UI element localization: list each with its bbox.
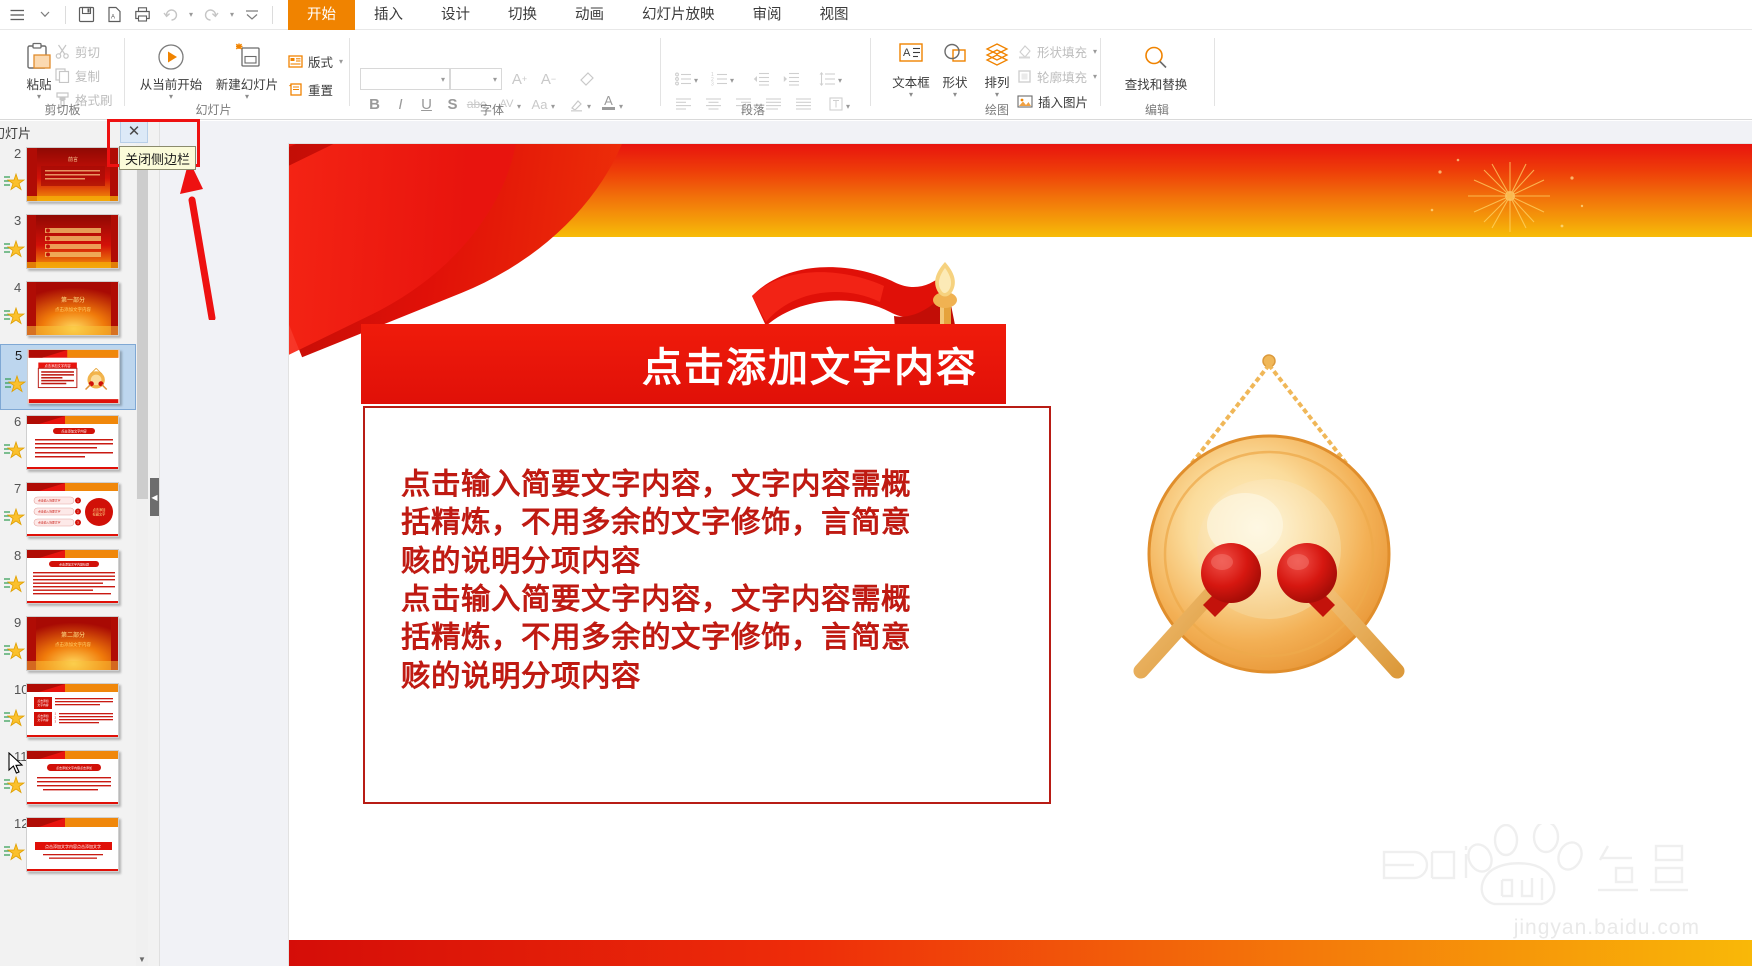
svg-text:A: A bbox=[903, 47, 911, 59]
tooltip-text: 关闭侧边栏 bbox=[125, 149, 190, 168]
svg-text:点击添加文字内容: 点击添加文字内容 bbox=[55, 641, 91, 648]
play-from-current-label: 从当前开始 bbox=[140, 74, 203, 93]
clipboard-group-label: 剪切板 bbox=[0, 101, 125, 118]
svg-text:前言: 前言 bbox=[68, 156, 78, 163]
play-from-current-button[interactable]: 从当前开始 ▾ bbox=[134, 42, 208, 100]
slide-footer-banner bbox=[289, 940, 1752, 966]
thumb-art: 前言 bbox=[27, 148, 119, 202]
gold-gong-illustration bbox=[1119, 349, 1439, 709]
shapes-label: 形状 bbox=[942, 72, 967, 91]
slide-number: 2 bbox=[14, 146, 21, 161]
bullets-icon[interactable] bbox=[671, 67, 696, 91]
body-line: 点击输入简要文字内容，文字内容需概 bbox=[401, 581, 1021, 619]
thumb-art: 点击添加 文字内容 点击添加 文字内容 123 bbox=[27, 684, 119, 738]
slide-preview[interactable]: 点击添加 文字内容 点击添加 文字内容 123 bbox=[26, 683, 119, 738]
reset-icon bbox=[288, 82, 303, 97]
slide-thumbnail-list[interactable]: 2 前言 3 bbox=[0, 143, 136, 966]
slide-thumbnail-item[interactable]: 10 点击添加 文字内容 点击添加 文字内容 123 bbox=[0, 679, 136, 745]
slide-thumbnail-item[interactable]: 7 点击输入简要文字点击输入简要文字点击输入简要文字 123 点击添加 标题文字 bbox=[0, 478, 136, 544]
slide-panel-title: 幻灯片 bbox=[0, 123, 31, 142]
thumb-art: 点击添加文字内容点击添加 bbox=[27, 751, 119, 805]
ribbon: 粘贴 ▾ 剪切 复制 格式刷 剪切板 bbox=[0, 30, 1752, 120]
slide-preview[interactable]: 点击添加文字内容点击添加 bbox=[26, 750, 119, 805]
annotation-arrow bbox=[178, 158, 218, 320]
textbox-dropdown-icon[interactable]: ▾ bbox=[909, 91, 913, 98]
svg-text:点击输入简要文字: 点击输入简要文字 bbox=[38, 510, 61, 514]
svg-text:点击添加文字内容点击添加文字: 点击添加文字内容点击添加文字 bbox=[45, 843, 101, 849]
slide-thumbnail-item[interactable]: 3 bbox=[0, 210, 136, 276]
layout-icon bbox=[288, 54, 303, 69]
redo-icon[interactable] bbox=[198, 2, 224, 28]
shape-fill-dropdown-icon[interactable]: ▾ bbox=[1093, 47, 1097, 56]
star-icon bbox=[3, 841, 25, 863]
star-icon bbox=[3, 238, 25, 260]
new-slide-button[interactable]: 新建幻灯片 ▾ bbox=[210, 42, 284, 100]
slide-preview[interactable]: 前言 bbox=[26, 147, 119, 202]
reset-item[interactable]: 重置 bbox=[288, 80, 333, 99]
close-sidebar-button[interactable]: ✕ bbox=[120, 119, 148, 143]
cut-icon bbox=[55, 44, 70, 59]
italic-icon[interactable]: I bbox=[388, 92, 413, 116]
play-from-current-dropdown-icon[interactable]: ▾ bbox=[169, 93, 173, 100]
font-size-dropdown-icon[interactable]: ▾ bbox=[493, 75, 497, 84]
slide-group-label: 幻灯片 bbox=[116, 101, 311, 118]
paste-icon bbox=[25, 42, 53, 72]
slide-preview[interactable] bbox=[26, 214, 119, 269]
slide-panel-scrollbar[interactable]: ▲ ▼ bbox=[136, 143, 148, 966]
star-icon bbox=[3, 439, 25, 461]
slide-preview[interactable]: 第二部分 点击添加文字内容 bbox=[26, 616, 119, 671]
svg-text:点击输入简要文字: 点击输入简要文字 bbox=[38, 499, 61, 503]
slide-preview[interactable]: 点击添加文字内容标题 bbox=[26, 549, 119, 604]
panel-collapse-handle[interactable]: ◀ bbox=[150, 478, 159, 516]
slide-title-bar[interactable]: 点击添加文字内容 bbox=[361, 324, 1006, 404]
star-icon bbox=[3, 305, 25, 327]
arrange-dropdown-icon[interactable]: ▾ bbox=[995, 91, 999, 98]
font-name-dropdown-icon[interactable]: ▾ bbox=[441, 75, 445, 84]
paste-label: 粘贴 bbox=[26, 74, 51, 93]
shrink-font-icon[interactable]: A− bbox=[536, 67, 561, 91]
thumb-art bbox=[27, 215, 119, 269]
slide-panel: 幻灯片 2 前言 bbox=[0, 121, 148, 966]
svg-text:文字内容: 文字内容 bbox=[37, 718, 48, 722]
svg-text:3: 3 bbox=[711, 82, 714, 87]
slide-preview[interactable]: 点击添加文字内容 bbox=[27, 349, 120, 404]
layout-label: 版式 bbox=[308, 52, 333, 71]
tab-review[interactable]: 审阅 bbox=[734, 0, 801, 30]
star-icon bbox=[3, 573, 25, 595]
body-line: 括精炼，不用多余的文字修饰，言简意 bbox=[401, 504, 1021, 542]
play-from-current-icon bbox=[156, 42, 186, 72]
slide-thumbnail-item[interactable]: 6 点击添加文字内容 bbox=[0, 411, 136, 477]
font-group-label: 字体 bbox=[412, 101, 572, 118]
slide-header-banner bbox=[289, 144, 1752, 237]
undo-dropdown-icon[interactable]: ▾ bbox=[186, 2, 196, 28]
scroll-down-icon[interactable]: ▼ bbox=[136, 952, 148, 966]
toolbar-divider bbox=[65, 6, 66, 24]
scrollbar-thumb[interactable] bbox=[137, 159, 148, 499]
arrange-label: 排列 bbox=[984, 72, 1009, 91]
shape-fill-label: 形状填充 bbox=[1037, 42, 1087, 61]
editing-group-label: 编辑 bbox=[1102, 101, 1212, 118]
textbox-label: 文本框 bbox=[892, 72, 930, 91]
slide-canvas[interactable]: 点击添加文字内容 点击输入简要文字内容，文字内容需概 括精炼，不用多余的文字修饰… bbox=[160, 121, 1752, 966]
paste-dropdown-icon[interactable]: ▾ bbox=[37, 93, 41, 100]
new-slide-label: 新建幻灯片 bbox=[216, 74, 279, 93]
text-highlight-dropdown-icon[interactable]: ▾ bbox=[587, 102, 591, 111]
layout-dropdown-icon[interactable]: ▾ bbox=[339, 57, 343, 66]
search-icon bbox=[1142, 44, 1170, 72]
chevron-down-icon[interactable] bbox=[32, 2, 58, 28]
slide-preview[interactable]: 第一部分 点击添加文字内容 bbox=[26, 281, 119, 336]
line-spacing-icon[interactable] bbox=[815, 67, 840, 91]
svg-text:A: A bbox=[111, 15, 115, 21]
star-icon bbox=[3, 640, 25, 662]
thumb-art: 第一部分 点击添加文字内容 bbox=[27, 282, 119, 336]
slide-number: 5 bbox=[15, 348, 22, 363]
shapes-dropdown-icon[interactable]: ▾ bbox=[953, 91, 957, 98]
svg-text:点击输入简要文字: 点击输入简要文字 bbox=[38, 521, 61, 525]
current-slide[interactable]: 点击添加文字内容 点击输入简要文字内容，文字内容需概 括精炼，不用多余的文字修饰… bbox=[288, 143, 1752, 966]
slide-thumbnail-item[interactable]: 8 点击添加文字内容标题 bbox=[0, 545, 136, 611]
slide-number: 6 bbox=[14, 414, 21, 429]
star-icon bbox=[3, 171, 25, 193]
slide-number: 8 bbox=[14, 548, 21, 563]
close-sidebar-tooltip: 关闭侧边栏 bbox=[119, 146, 196, 170]
slide-number: 7 bbox=[14, 481, 21, 496]
shape-outline-item[interactable]: 轮廓填充 ▾ bbox=[1017, 67, 1097, 86]
svg-text:文字内容: 文字内容 bbox=[37, 703, 48, 707]
export-pdf-icon[interactable]: A bbox=[101, 2, 127, 28]
shape-fill-icon bbox=[1017, 44, 1032, 59]
slide-thumbnail-item[interactable]: 9 第二部分 点击添加文字内容 bbox=[0, 612, 136, 678]
close-icon: ✕ bbox=[128, 122, 141, 140]
ribbon-group-editing: 查找和替换 编辑 bbox=[1102, 30, 1212, 120]
slide-number: 4 bbox=[14, 280, 21, 295]
bullets-dropdown-icon[interactable]: ▾ bbox=[694, 76, 698, 85]
cut-label: 剪切 bbox=[75, 42, 100, 61]
baidu-jingyan-watermark bbox=[1374, 824, 1704, 916]
mouse-cursor bbox=[8, 752, 26, 776]
shape-outline-icon bbox=[1017, 69, 1032, 84]
svg-text:点击添加: 点击添加 bbox=[93, 507, 106, 512]
slide-number: 9 bbox=[14, 615, 21, 630]
shape-outline-label: 轮廓填充 bbox=[1037, 67, 1087, 86]
clear-format-icon[interactable] bbox=[574, 67, 599, 91]
cut-item[interactable]: 剪切 bbox=[55, 42, 100, 61]
watermark-url: jingyan.baidu.com bbox=[1514, 916, 1700, 940]
tab-view[interactable]: 视图 bbox=[801, 0, 868, 30]
star-icon bbox=[3, 707, 25, 729]
thumb-art: 点击添加文字内容 bbox=[28, 350, 119, 403]
font-name-input[interactable]: ▾ bbox=[360, 68, 450, 90]
ribbon-group-font: ▾ ▾ A+ A− B I U S abc AV ▾ Aa ▾ ▾ bbox=[352, 30, 652, 120]
slide-preview[interactable]: 点击输入简要文字点击输入简要文字点击输入简要文字 123 点击添加 标题文字 bbox=[26, 482, 119, 537]
toolbar-divider-2 bbox=[272, 6, 273, 24]
star-icon bbox=[4, 373, 26, 395]
slide-preview[interactable]: 点击添加文字内容点击添加文字 bbox=[26, 817, 119, 872]
new-slide-icon bbox=[232, 42, 262, 72]
find-replace-button[interactable]: 查找和替换 bbox=[1116, 44, 1196, 93]
copy-icon bbox=[55, 68, 70, 83]
drawing-group-label: 绘图 bbox=[872, 101, 1122, 118]
customize-qat-icon[interactable] bbox=[239, 2, 265, 28]
svg-text:点击添加文字内容标题: 点击添加文字内容标题 bbox=[59, 562, 89, 567]
bold-icon[interactable]: B bbox=[362, 92, 387, 116]
ribbon-group-drawing: A 文本框 ▾ 形状 ▾ 排列 ▾ bbox=[872, 30, 1122, 120]
slide-number: 3 bbox=[14, 213, 21, 228]
slide-thumbnail-item-selected[interactable]: 5 点击添加文字内容 bbox=[0, 344, 136, 410]
svg-text:第一部分: 第一部分 bbox=[61, 296, 85, 304]
body-line: 赅的说明分项内容 bbox=[401, 543, 1021, 581]
font-color-dropdown-icon[interactable]: ▾ bbox=[619, 102, 623, 111]
thumb-art: 点击输入简要文字点击输入简要文字点击输入简要文字 123 点击添加 标题文字 bbox=[27, 483, 119, 537]
tab-start[interactable]: 开始 bbox=[288, 0, 355, 30]
increase-indent-icon[interactable] bbox=[779, 67, 804, 91]
svg-text:点击添加文字内容: 点击添加文字内容 bbox=[45, 363, 72, 368]
thumb-art: 点击添加文字内容点击添加文字 bbox=[27, 818, 119, 872]
copy-label: 复制 bbox=[75, 66, 100, 85]
redo-dropdown-icon[interactable]: ▾ bbox=[227, 2, 237, 28]
slide-title: 点击添加文字内容 bbox=[642, 335, 978, 393]
font-color-icon[interactable]: A bbox=[596, 90, 621, 114]
decrease-indent-icon[interactable] bbox=[749, 67, 774, 91]
shape-fill-item[interactable]: 形状填充 ▾ bbox=[1017, 42, 1097, 61]
menu-icon[interactable] bbox=[4, 2, 30, 28]
undo-icon[interactable] bbox=[157, 2, 183, 28]
svg-text:点击添加文字内容: 点击添加文字内容 bbox=[61, 429, 87, 434]
quick-access-toolbar: A ▾ ▾ bbox=[0, 0, 278, 30]
svg-text:点击添加文字内容点击添加: 点击添加文字内容点击添加 bbox=[56, 765, 92, 770]
slide-thumbnail-item[interactable]: 12 点击添加文字内容点击添加文字 bbox=[0, 813, 136, 879]
panel-splitter[interactable] bbox=[148, 121, 160, 966]
layout-item[interactable]: 版式 ▾ bbox=[288, 52, 343, 71]
slide-body-box[interactable]: 点击输入简要文字内容，文字内容需概 括精炼，不用多余的文字修饰，言简意 赅的说明… bbox=[363, 406, 1051, 804]
slide-preview[interactable]: 点击添加文字内容 bbox=[26, 415, 119, 470]
grow-font-icon[interactable]: A+ bbox=[507, 67, 532, 91]
tab-insert[interactable]: 插入 bbox=[355, 0, 422, 30]
print-icon[interactable] bbox=[129, 2, 155, 28]
tab-design[interactable]: 设计 bbox=[422, 0, 489, 30]
thumb-art: 点击添加文字内容 bbox=[27, 416, 119, 470]
reset-label: 重置 bbox=[308, 80, 333, 99]
ribbon-group-clipboard: 粘贴 ▾ 剪切 复制 格式刷 剪切板 bbox=[0, 30, 125, 120]
numbering-icon[interactable]: 123 bbox=[707, 67, 732, 91]
svg-text:点击添加文字内容: 点击添加文字内容 bbox=[55, 306, 91, 313]
tab-slideshow[interactable]: 幻灯片放映 bbox=[623, 0, 734, 30]
paragraph-group-label: 段落 bbox=[663, 101, 843, 118]
body-line: 括精炼，不用多余的文字修饰，言简意 bbox=[401, 619, 1021, 657]
line-spacing-dropdown-icon[interactable]: ▾ bbox=[838, 76, 842, 85]
thumb-art: 点击添加文字内容标题 bbox=[27, 550, 119, 604]
slide-thumbnail-item[interactable]: 2 前言 bbox=[0, 143, 136, 209]
text-direction-dropdown-icon[interactable]: ▾ bbox=[846, 102, 850, 111]
numbering-dropdown-icon[interactable]: ▾ bbox=[730, 76, 734, 85]
slide-body-text: 点击输入简要文字内容，文字内容需概 括精炼，不用多余的文字修饰，言简意 赅的说明… bbox=[401, 466, 1021, 696]
arrange-icon bbox=[982, 42, 1012, 70]
ribbon-group-paragraph: ▾ 123 ▾ ▾ bbox=[663, 30, 863, 120]
shape-outline-dropdown-icon[interactable]: ▾ bbox=[1093, 72, 1097, 81]
thumb-art: 第二部分 点击添加文字内容 bbox=[27, 617, 119, 671]
menu-bar: A ▾ ▾ 开始 插入 设计 切换 动画 幻灯片放映 审阅 bbox=[0, 0, 1752, 30]
save-icon[interactable] bbox=[73, 2, 99, 28]
find-replace-label: 查找和替换 bbox=[1125, 74, 1188, 93]
new-slide-dropdown-icon[interactable]: ▾ bbox=[245, 93, 249, 100]
wps-presentation-window: A ▾ ▾ 开始 插入 设计 切换 动画 幻灯片放映 审阅 bbox=[0, 0, 1752, 966]
tab-animation[interactable]: 动画 bbox=[556, 0, 623, 30]
firework-icon bbox=[1422, 148, 1592, 248]
ribbon-tabs: 开始 插入 设计 切换 动画 幻灯片放映 审阅 视图 bbox=[288, 0, 868, 30]
star-icon bbox=[3, 774, 25, 796]
body-line: 赅的说明分项内容 bbox=[401, 658, 1021, 696]
svg-text:标题文字: 标题文字 bbox=[93, 512, 106, 517]
tab-transition[interactable]: 切换 bbox=[489, 0, 556, 30]
shapes-icon bbox=[940, 42, 970, 70]
copy-item[interactable]: 复制 bbox=[55, 66, 100, 85]
textbox-icon: A bbox=[896, 42, 926, 70]
svg-text:第二部分: 第二部分 bbox=[61, 631, 85, 639]
font-size-input[interactable]: ▾ bbox=[450, 68, 502, 90]
star-icon bbox=[3, 506, 25, 528]
body-line: 点击输入简要文字内容，文字内容需概 bbox=[401, 466, 1021, 504]
ribbon-group-slide: 从当前开始 ▾ 新建幻灯片 ▾ 版式 ▾ bbox=[126, 30, 321, 120]
slide-thumbnail-item[interactable]: 4 第一部分 点击添加文字内容 bbox=[0, 277, 136, 343]
